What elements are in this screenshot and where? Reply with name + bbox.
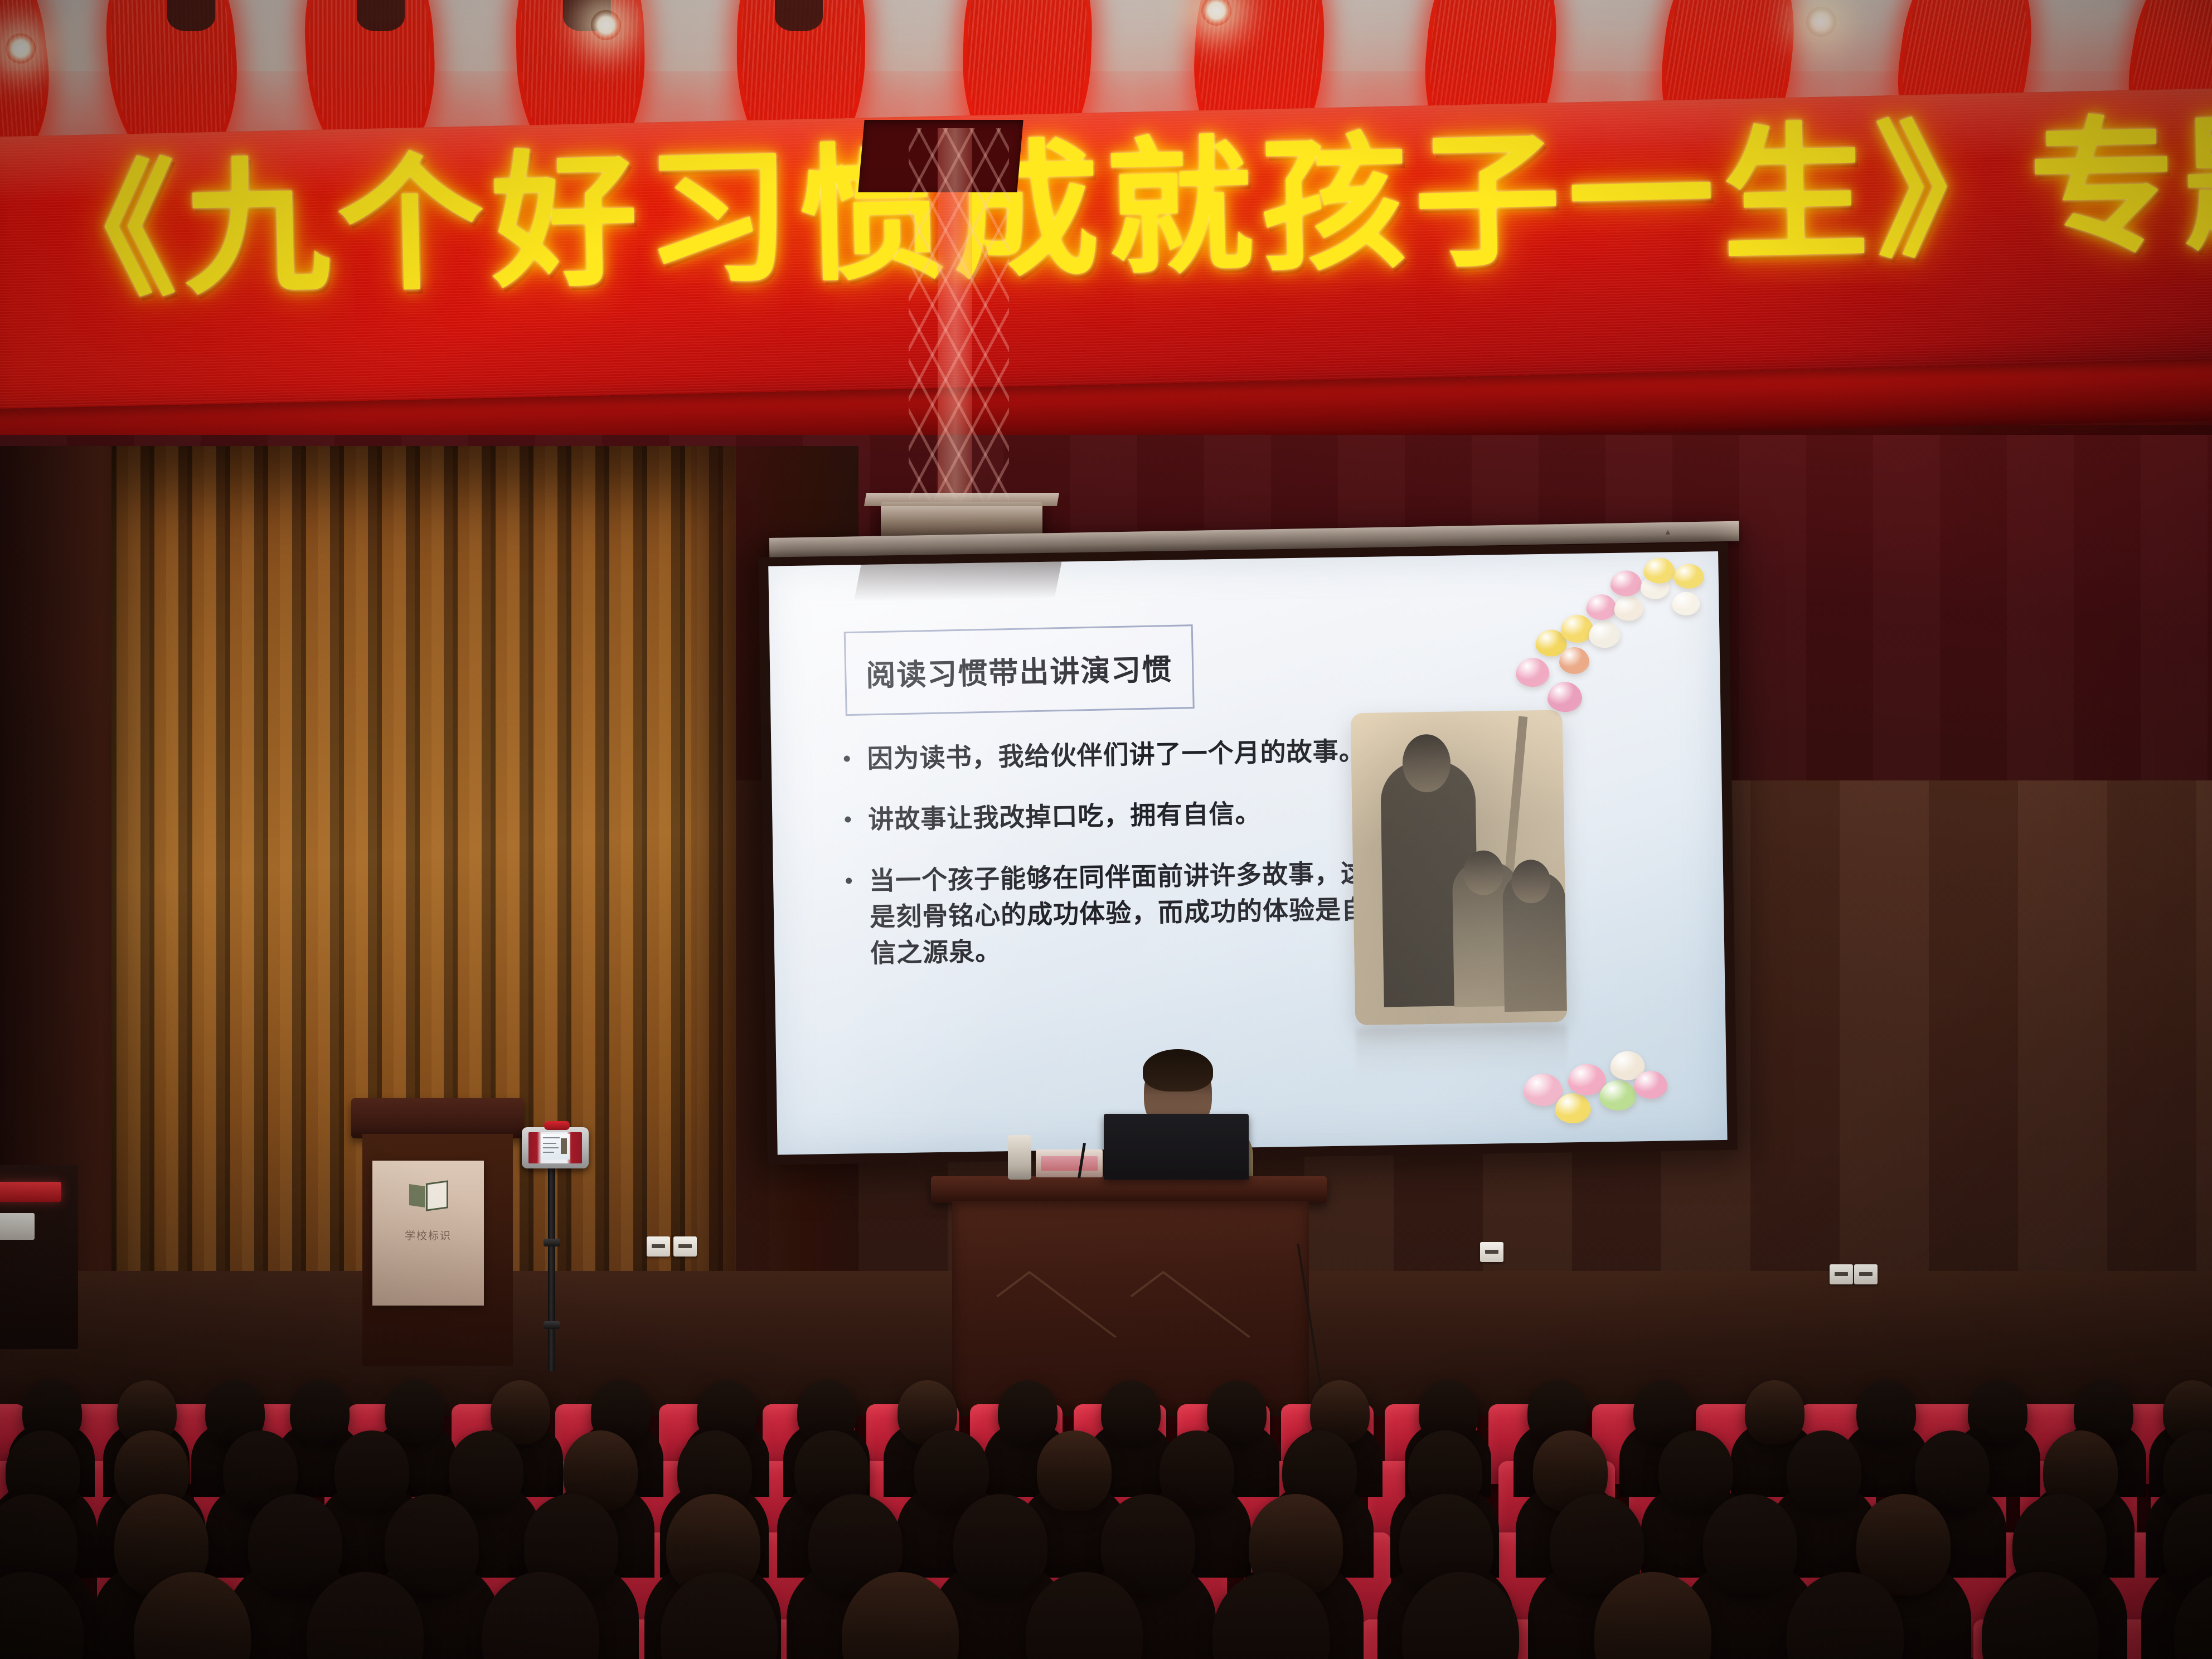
presenter-laptop[interactable] [1104,1114,1249,1180]
candy-decoration [1548,682,1583,712]
banner-title-text: 《九个好习惯成就孩子一生》专题报告会 [28,113,2205,307]
lectern-nameplate [1036,1149,1103,1177]
slide-bullet: 当一个孩子能够在同伴面前讲许多故事，这是刻骨铭心的成功体验，而成功的体验是自信之… [838,855,1369,973]
audience-member-head [334,1430,409,1511]
ceiling-spotlight [1806,7,1836,37]
ceiling-spotlight [6,33,36,64]
audience-member-head [449,1430,523,1511]
candy-decoration [1516,658,1550,687]
audience-member-head [385,1380,444,1444]
wall-socket[interactable] [673,1236,697,1257]
wall-socket[interactable] [1830,1264,1853,1284]
audience-member-head [1207,1380,1267,1444]
candy-decoration [1673,564,1704,589]
slide-candy-decoration-bottom-right [1501,1042,1725,1151]
ceiling-spotlight [591,10,621,40]
audience-member-head [248,1494,342,1595]
slide-candy-decoration-top-right [1504,561,1724,726]
smartphone-recording[interactable] [522,1127,589,1168]
slide-title-box: 阅读习惯带出讲演习惯 [844,624,1195,716]
projector-scissor-lift [909,128,1009,513]
audience-member-head [998,1380,1058,1444]
candy-decoration [1643,557,1675,584]
school-logo-icon [409,1181,446,1207]
housing-brand-mark: ▲ [1664,527,1672,536]
candy-decoration [1614,596,1643,621]
audience-member-head [290,1380,350,1444]
secondary-lectern: 学校标识 [351,1098,524,1366]
wall-socket[interactable] [1480,1242,1503,1262]
audience-member-head [1703,1494,1797,1595]
presenter-cup [1008,1135,1031,1180]
candy-decoration [1561,614,1594,643]
wall-socket[interactable] [647,1236,670,1257]
slide-bullet: 因为读书，我给伙伴们讲了一个月的故事。 [836,733,1366,778]
audience-member-head [1658,1430,1733,1511]
candy-decoration [1589,621,1621,648]
audience-member-head [1745,1380,1804,1444]
slide-bullet-list: 因为读书，我给伙伴们讲了一个月的故事。 讲故事让我改掉口吃，拥有自信。 当一个孩… [836,733,1369,997]
candy-decoration [1672,591,1700,615]
candy-decoration [1599,1080,1637,1110]
slide-bullet: 讲故事让我改掉口吃，拥有自信。 [837,794,1367,838]
audience-member-head [914,1430,989,1511]
side-equipment [0,1165,78,1349]
phone-clamp [544,1121,570,1130]
audience-member-head [1856,1380,1916,1444]
audience-member-head [1968,1380,2027,1444]
audience-member-head [1101,1494,1195,1595]
audience-member-head [1787,1430,1861,1511]
lectern-front-panel: 学校标识 [372,1161,484,1306]
slide-photo-vintage-family [1351,710,1568,1025]
candy-decoration [1559,647,1590,675]
audience-member-head [1101,1380,1161,1444]
slide-title: 阅读习惯带出讲演习惯 [846,626,1193,714]
auditorium-photo-scene: 《九个好习惯成就孩子一生》专题报告会 ▲ 阅读习惯带出讲演习惯 因为读书，我给伙 [0,0,2212,1659]
audience-member-head [1160,1430,1234,1511]
candy-decoration [1634,1071,1668,1099]
phone-screen-preview [528,1132,582,1163]
audience-member-head [1037,1430,1112,1511]
candy-decoration [1555,1093,1591,1124]
wall-socket[interactable] [1854,1264,1878,1284]
candy-decoration [1586,594,1617,620]
lectern-panel-caption: 学校标识 [372,1228,484,1243]
audience-member-head [385,1494,479,1595]
audience-seating [0,1327,2212,1659]
candy-decoration [1611,570,1642,596]
audience-member-head [1915,1430,1990,1511]
audience-member-head [953,1494,1047,1595]
